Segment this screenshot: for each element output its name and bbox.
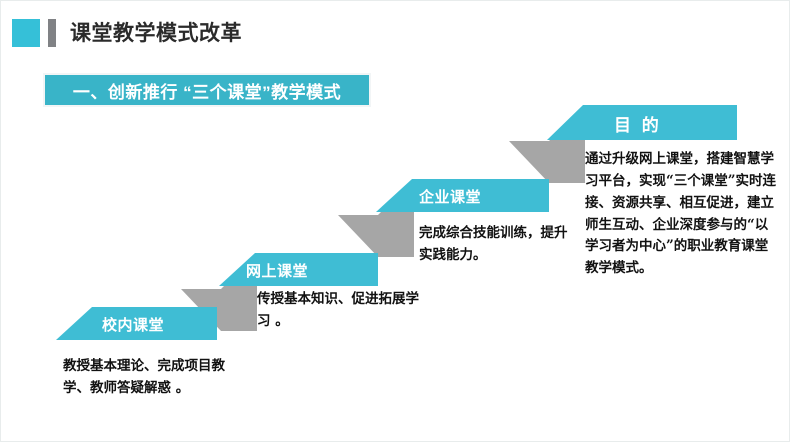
step-label-2: 网上课堂 [246, 260, 308, 281]
step-description-3: 完成综合技能训练，提升实践能力。 [419, 223, 579, 267]
section-subtitle-text: 一、创新推行 “三个课堂”教学模式 [73, 78, 341, 103]
slide-canvas: 课堂教学模式改革 一、创新推行 “三个课堂”教学模式 校内课堂 网上课堂 企业课… [0, 0, 790, 442]
section-subtitle-banner: 一、创新推行 “三个课堂”教学模式 [43, 73, 371, 107]
slide-header: 课堂教学模式改革 [12, 18, 242, 48]
step-label-1: 校内课堂 [102, 314, 164, 335]
step-label-4: 目 的 [614, 111, 662, 136]
step-description-4: 通过升级网上课堂，搭建智慧学习平台，实现“三个课堂”实时连接、资源共享、相互促进… [585, 149, 781, 280]
step-description-1: 教授基本理论、完成项目教学、教师答疑解惑 。 [63, 356, 238, 400]
step-riser-4 [509, 105, 585, 183]
page-title: 课堂教学模式改革 [70, 23, 242, 44]
step-riser-3 [338, 179, 414, 257]
step-description-2: 传授基本知识、促进拓展学习 。 [257, 289, 425, 333]
header-accent-square [12, 19, 40, 47]
header-accent-bar [48, 19, 56, 47]
step-label-3: 企业课堂 [419, 186, 481, 207]
